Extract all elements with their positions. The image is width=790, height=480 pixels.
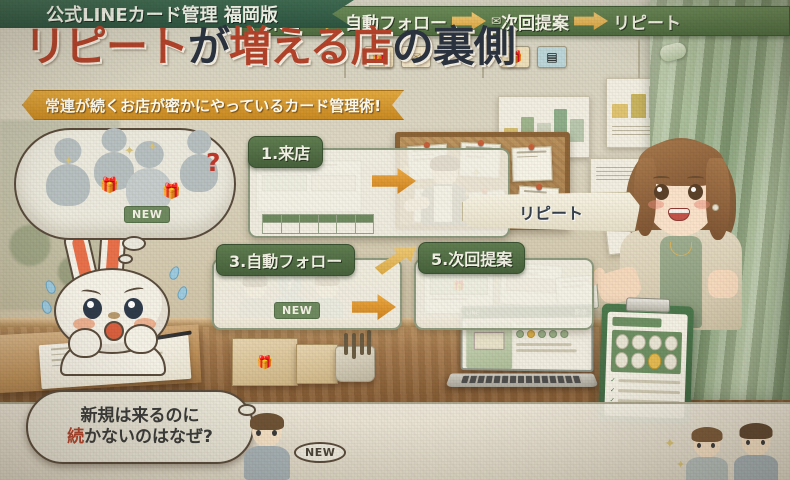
laptop-base (445, 373, 599, 387)
rabbit-paw-left (68, 328, 102, 358)
pen-cup (335, 346, 375, 382)
headline-part-4: の裏側 (392, 22, 515, 71)
flow-arrow-icon-3 (574, 12, 608, 30)
flow-step-4-label: リピート (613, 9, 681, 34)
step3-tab[interactable]: 3.自動フォロー (216, 244, 355, 276)
check-icon: ✓ (610, 386, 615, 393)
rabbit-eye-right (124, 298, 143, 319)
rabbit-nose (108, 312, 120, 319)
rabbit-speech-bubble: 新規は来るのに 続かないのはなぜ? (26, 390, 254, 464)
sparkle-icon: ✦ (148, 140, 157, 153)
step5-tab[interactable]: 5.次回提案 (418, 242, 525, 274)
speech-line-2-rest: かないのはなぜ? (84, 427, 213, 447)
infographic-canvas: 🎁 1.来店 ✦ ✦ ✦ ✦ リピート 3.自動フォロー (0, 0, 790, 480)
gift-box-small (296, 344, 338, 384)
flow-divider (638, 38, 640, 78)
woman-eye-left (654, 184, 669, 200)
woman-eye-right (688, 184, 703, 200)
step1-tab[interactable]: 1.来店 (248, 136, 323, 168)
sparkle-icon: ✦ (664, 436, 676, 452)
speech-line-1: 新規は来るのに (81, 406, 200, 427)
rabbit-thought-bubble: 🎁 🎁 ? ✦ ✦ ✦ NEW (14, 128, 236, 240)
step5-label: 5.次回提案 (431, 250, 512, 269)
clipboard-clip (626, 297, 670, 313)
speech-line-2-highlight: 続 (67, 427, 84, 447)
headline-part-2: が (188, 22, 229, 71)
gift-icon: 🎁 (162, 182, 181, 200)
question-mark-icon: ? (206, 148, 221, 177)
rabbit-paw-right (124, 324, 158, 354)
headline-part-3: 増える店 (229, 22, 392, 71)
repeat-banner-label: リピート (519, 200, 583, 224)
headline-part-1: リピート (24, 22, 188, 71)
earring-icon (712, 204, 719, 211)
sparkle-icon: ✦ (64, 154, 73, 167)
subtitle-label: 常連が続くお店が密かにやっているカード管理術! (45, 95, 381, 116)
flow-repeat-person-a (686, 430, 728, 480)
customer-silhouette (46, 164, 90, 206)
flow-new-badge: NEW (294, 442, 346, 463)
rabbit-brow-right (123, 286, 144, 297)
sweat-drop-icon (40, 299, 53, 315)
corkboard-note (511, 146, 552, 181)
rabbit-eye-left (83, 298, 102, 319)
gift-icon: 🎁 (100, 176, 119, 194)
sweat-drop-icon (168, 265, 182, 281)
laptop-card-dots (516, 330, 587, 338)
thought-bubble-dot (118, 254, 133, 264)
flow-repeat-person-b (734, 426, 778, 480)
laptop-keyboard (461, 376, 583, 383)
rabbit-mouth (104, 321, 124, 341)
woman-curtain-hand (708, 270, 738, 298)
thought-new-badge: NEW (124, 206, 170, 223)
sweat-drop-icon (44, 279, 58, 295)
step1-arrow-icon (372, 168, 416, 194)
thought-bubble-dot (122, 236, 146, 251)
gift-icon: 🎁 (257, 355, 273, 370)
check-icon: ✓ (610, 376, 615, 383)
card-icon: ▤ (537, 46, 567, 68)
sweat-drop-icon (176, 285, 189, 301)
step1-label: 1.来店 (261, 144, 310, 163)
stamp-card-grid (611, 330, 682, 374)
flow-customer-person (244, 416, 290, 478)
step1-table (262, 214, 374, 234)
flow-person-thought-dot (238, 404, 256, 416)
page-title: リピートが増える店の裏側 (24, 26, 515, 68)
step3-new-badge: NEW (274, 302, 320, 319)
step3-label: 3.自動フォロー (229, 252, 342, 271)
clipboard-header-bar (612, 317, 661, 328)
repeat-banner: リピート (462, 192, 640, 232)
step3-arrow-icon (352, 294, 396, 320)
sparkle-icon: ✦ (124, 144, 135, 159)
subtitle-banner: 常連が続くお店が密かにやっているカード管理術! (22, 90, 404, 120)
gift-box-large: 🎁 (232, 338, 298, 386)
sparkle-icon: ✦ (676, 458, 685, 471)
rabbit-mascot (42, 232, 202, 362)
